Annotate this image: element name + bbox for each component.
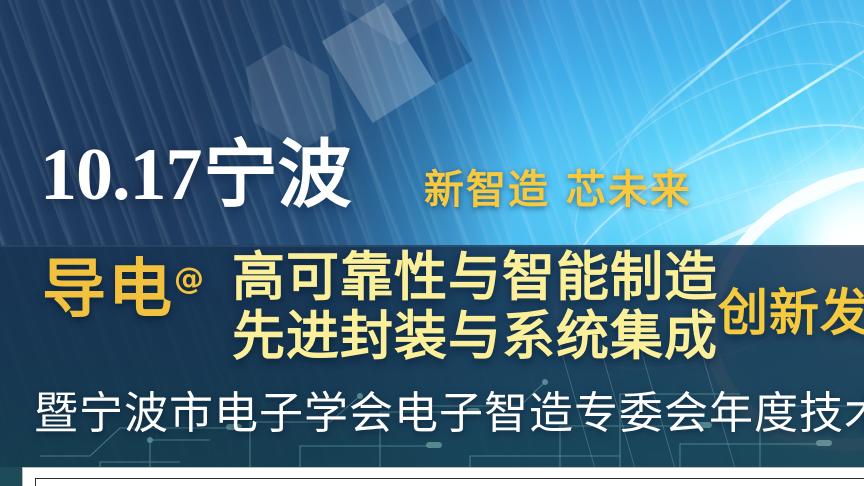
event-subtitle: 暨宁波市电子学会电子智造专委会年度技术交 <box>34 392 864 436</box>
event-date: 10.17 <box>40 140 202 210</box>
lead-keyword-text: 导电 <box>42 253 174 327</box>
lead-keyword: 导电@ <box>42 258 204 322</box>
side-keyword: 创新发 <box>718 288 864 338</box>
panel-left-strip <box>0 467 22 486</box>
main-title-line-1: 高可靠性与智能制造 <box>232 250 718 307</box>
banner-poster: 10.17 宁波 新智造 芯未来 导电@ 高可靠性与智能制造 先进封装与系统集成… <box>0 0 864 486</box>
bottom-content-panel-inner <box>35 478 864 486</box>
date-city-row: 10.17 宁波 <box>40 140 352 210</box>
bottom-content-panel <box>22 467 864 486</box>
event-city: 宁波 <box>204 140 352 210</box>
main-title: 高可靠性与智能制造 先进封装与系统集成 <box>232 250 718 365</box>
main-title-line-2: 先进封装与系统集成 <box>232 309 718 366</box>
at-symbol-icon: @ <box>174 262 204 297</box>
event-slogan: 新智造 芯未来 <box>424 170 692 210</box>
